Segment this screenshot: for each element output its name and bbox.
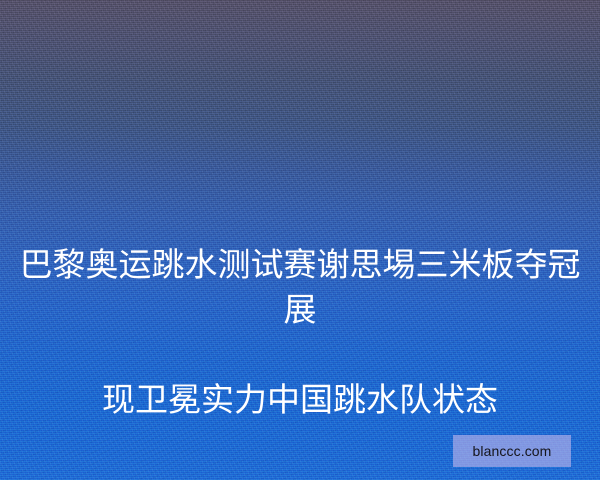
headline-text: 巴黎奥运跳水测试赛谢思埸三米板夺冠展 现卫冕实力中国跳水队状态	[0, 197, 600, 467]
headline-line-1: 巴黎奥运跳水测试赛谢思埸三米板夺冠展	[14, 242, 586, 332]
headline-line-2: 现卫冕实力中国跳水队状态	[14, 377, 586, 422]
watermark-label: blanccc.com	[473, 444, 552, 458]
watermark-badge: blanccc.com	[453, 435, 571, 467]
image-canvas: 巴黎奥运跳水测试赛谢思埸三米板夺冠展 现卫冕实力中国跳水队状态 blanccc.…	[0, 0, 600, 480]
